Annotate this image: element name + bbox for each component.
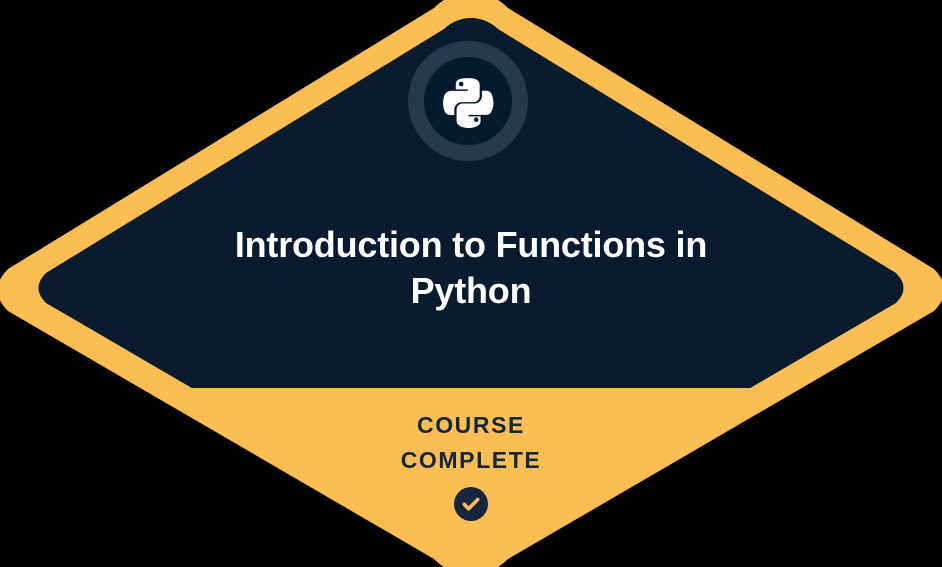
status-label: COURSE COMPLETE: [271, 408, 671, 478]
python-emblem: [408, 41, 528, 161]
python-logo-icon: [441, 74, 495, 128]
course-badge: Introduction to Functions in Python COUR…: [0, 0, 942, 567]
course-title: Introduction to Functions in Python: [171, 222, 771, 314]
status-block: COURSE COMPLETE: [271, 408, 671, 526]
check-circle-icon: [454, 487, 488, 521]
